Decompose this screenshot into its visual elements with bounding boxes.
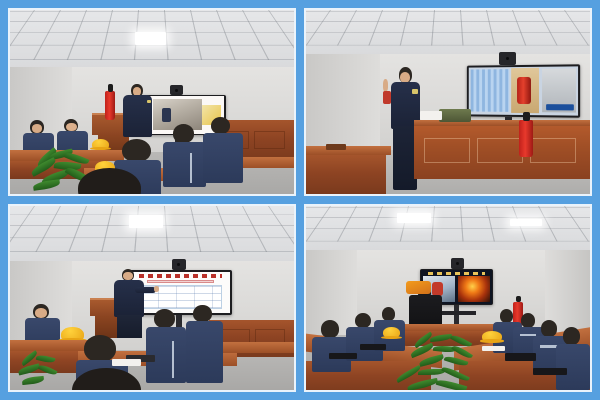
ceiling-panel-light: [135, 32, 166, 45]
presentation-display[interactable]: [467, 64, 580, 117]
front-table: [391, 324, 505, 331]
audience-face: [35, 308, 48, 319]
notebook: [533, 368, 567, 375]
yellow-hard-hat: [92, 139, 109, 150]
audience-head: [321, 320, 339, 338]
ceiling-panel-light: [510, 219, 541, 226]
fire-extinguisher: [105, 91, 115, 120]
conference-camera-icon: [451, 258, 464, 269]
paper-handout: [482, 346, 505, 352]
presenter: [118, 84, 158, 143]
ceiling-panel-light: [129, 215, 163, 228]
audience-member: [146, 309, 186, 383]
audience-coverall: [163, 142, 206, 187]
audience-head: [173, 124, 194, 143]
audience-head: [122, 139, 151, 163]
audience-coverall: [203, 133, 243, 183]
audience-head: [154, 309, 175, 328]
audience-head: [541, 320, 557, 337]
slide-content: [468, 66, 578, 116]
notebook: [360, 344, 386, 350]
audience-member: [163, 124, 206, 187]
ceiling-grid: [306, 206, 590, 254]
notebook: [329, 353, 357, 359]
fire-extinguisher: [519, 120, 533, 157]
presenter-pointing-arm: [135, 287, 156, 293]
presenter-hand: [154, 286, 159, 292]
audience-head: [382, 307, 396, 321]
potted-plant: [16, 353, 73, 390]
audience-head: [355, 313, 371, 328]
shoulder-insignia: [412, 89, 418, 94]
table-detail: [326, 144, 346, 150]
collage-panel-bottom-right[interactable]: Instructor in black uniform demonstratin…: [304, 204, 592, 392]
yellow-hard-hat: [482, 331, 502, 342]
audience-head: [563, 327, 580, 345]
classroom-scene-top-left: Instructor in dark navy uniform holding …: [10, 10, 294, 194]
audience-member: [203, 117, 243, 183]
equipment-bag: [439, 109, 470, 122]
laptop: [420, 111, 443, 120]
ceiling-grid: [306, 10, 590, 58]
audience-head: [84, 335, 116, 362]
conference-camera-icon: [170, 85, 183, 94]
presenter-uniform: [114, 280, 144, 318]
presenter-raised-hand: [383, 79, 388, 91]
microphone: [383, 91, 392, 104]
yellow-hard-hat: [383, 327, 400, 338]
paper-handout: [112, 359, 140, 366]
conference-table: [306, 146, 391, 155]
classroom-scene-bottom-left: Instructor pointing toward the display s…: [10, 206, 294, 390]
audience-member: [556, 327, 590, 390]
audience-member: [186, 305, 223, 382]
audience-head: [500, 309, 513, 323]
classroom-scene-bottom-right: Instructor in black uniform demonstratin…: [306, 206, 590, 390]
audience-face: [66, 123, 77, 132]
audience-coverall: [186, 321, 223, 383]
ceiling-panel-light: [397, 213, 431, 222]
conference-camera-icon: [499, 52, 516, 65]
presenter: [112, 269, 149, 339]
display-screen: [468, 66, 578, 116]
audience-coverall: [556, 344, 590, 390]
audience-head: [193, 305, 211, 322]
collage-panel-top-left[interactable]: Instructor in dark navy uniform holding …: [8, 8, 296, 196]
classroom-scene-top-right: Instructor standing and gesturing with a…: [306, 10, 590, 194]
display-shelf: [437, 311, 477, 315]
photo-collage: Instructor in dark navy uniform holding …: [0, 0, 600, 400]
shoulder-insignia: [147, 100, 152, 103]
table-front: [306, 155, 386, 194]
collage-panel-bottom-left[interactable]: Instructor pointing toward the display s…: [8, 204, 296, 392]
collage-panel-top-right[interactable]: Instructor standing and gesturing with a…: [304, 8, 592, 196]
wooden-cabinet: [414, 124, 590, 179]
potted-plant: [391, 368, 488, 390]
orange-escape-hood: [406, 281, 431, 294]
notebook: [505, 353, 536, 360]
audience-head: [211, 117, 230, 134]
conference-camera-icon: [172, 259, 186, 270]
